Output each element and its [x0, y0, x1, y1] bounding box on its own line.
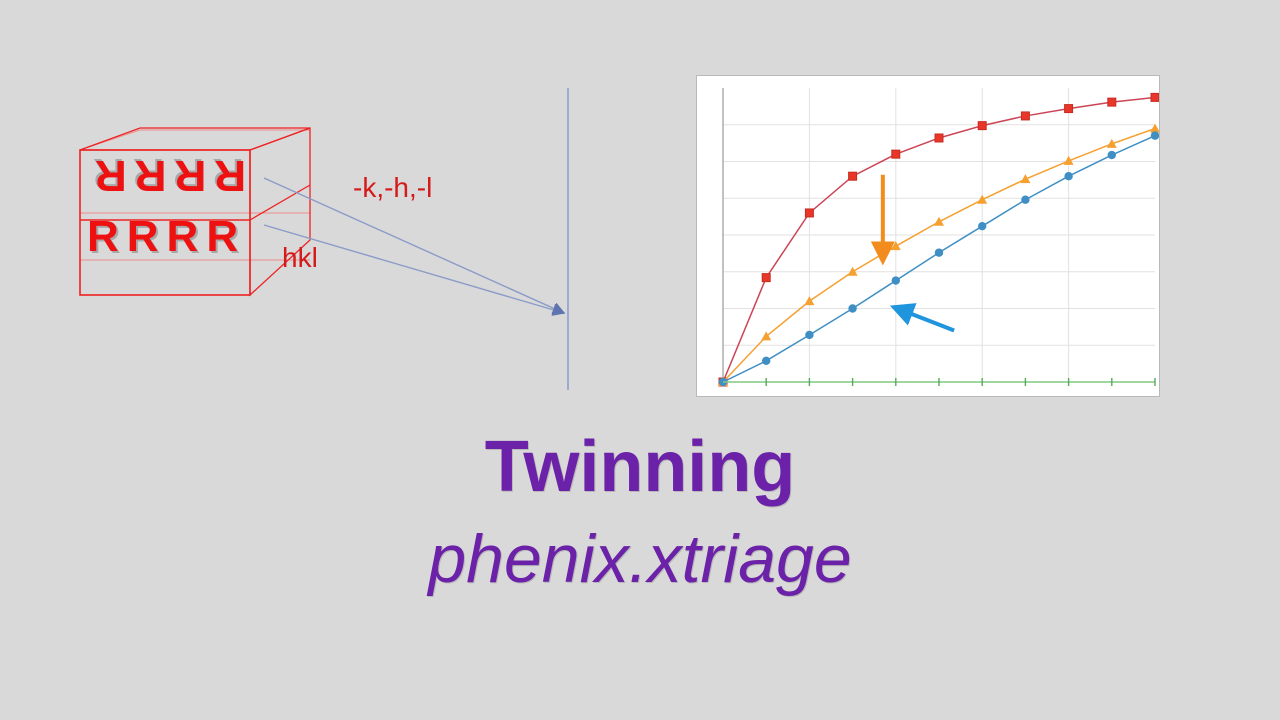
chart-series-baseline [723, 378, 1155, 386]
rays-svg [250, 80, 590, 400]
data-point [762, 357, 770, 365]
data-point [804, 296, 814, 305]
page-title: Twinning [0, 430, 1280, 506]
data-point [1065, 105, 1073, 113]
data-point [892, 276, 900, 284]
data-point [978, 122, 986, 130]
data-point [1020, 174, 1030, 183]
chart-svg [697, 76, 1159, 396]
data-point [805, 209, 813, 217]
data-point [892, 150, 900, 158]
page-subtitle: phenix.xtriage [0, 522, 1280, 597]
data-point [848, 304, 856, 312]
data-point [891, 241, 901, 250]
twin-domain-lower-label: RRRR [87, 215, 246, 259]
data-point [1064, 172, 1072, 180]
data-point [935, 248, 943, 256]
data-point [1108, 98, 1116, 106]
data-point [934, 217, 944, 226]
ray-lower [264, 225, 564, 313]
slide-canvas: RRRR RRRR -k,-h,-l hkl Twinning phenix. [0, 0, 1280, 720]
chart-series-perfect-twin [719, 93, 1159, 386]
data-point [978, 222, 986, 230]
data-point [935, 134, 943, 142]
data-point [1021, 196, 1029, 204]
twin-domain-upper-label: RRRR [87, 153, 246, 197]
data-point [977, 195, 987, 204]
data-point [762, 274, 770, 282]
title-block: Twinning phenix.xtriage [0, 430, 1280, 596]
data-point [1064, 156, 1074, 165]
cumulative-intensity-chart [696, 75, 1160, 397]
ray-upper [264, 178, 564, 313]
diffraction-rays [250, 80, 590, 400]
chart-series-observed [719, 131, 1159, 386]
data-point [1021, 112, 1029, 120]
data-point [805, 331, 813, 339]
data-point [1108, 151, 1116, 159]
data-point [1151, 131, 1159, 139]
data-point [849, 172, 857, 180]
blue-left-arrow [894, 307, 954, 331]
data-point [1151, 93, 1159, 101]
chart-gridlines [723, 88, 1155, 382]
